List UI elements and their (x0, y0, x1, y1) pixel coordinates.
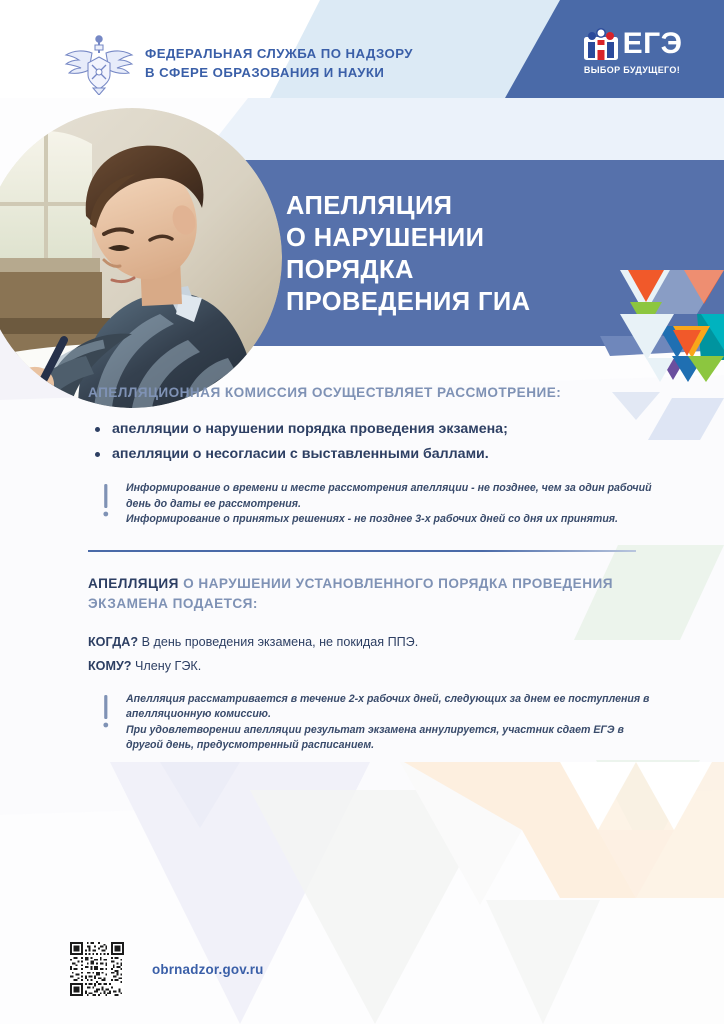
hero-banner: АПЕЛЛЯЦИЯ О НАРУШЕНИИ ПОРЯДКА ПРОВЕДЕНИЯ… (0, 98, 724, 383)
agency-name: ФЕДЕРАЛЬНАЯ СЛУЖБА ПО НАДЗОРУ В СФЕРЕ ОБ… (145, 44, 413, 82)
rosobrnadzor-emblem-icon (62, 33, 136, 95)
section-divider (88, 550, 636, 552)
section1-note: Информирование о времени и месте рассмот… (100, 481, 660, 528)
qa-value: Члену ГЭК. (132, 659, 202, 673)
qr-code-icon[interactable] (70, 942, 124, 996)
exclamation-mark-icon (100, 695, 112, 729)
qa-label: КОГДА? (88, 635, 138, 649)
poster-root: ФЕДЕРАЛЬНАЯ СЛУЖБА ПО НАДЗОРУ В СФЕРЕ ОБ… (0, 0, 724, 1024)
exclamation-mark-icon (100, 484, 112, 518)
page-footer: obrnadzor.gov.ru (0, 914, 724, 1024)
ege-logo-tagline: ВЫБОР БУДУЩЕГО! (568, 65, 696, 75)
hero-title: АПЕЛЛЯЦИЯ О НАРУШЕНИИ ПОРЯДКА ПРОВЕДЕНИЯ… (286, 190, 530, 318)
section2-note: Апелляция рассматривается в течение 2-х … (100, 692, 660, 754)
section2-qa-list: КОГДА? В день проведения экзамена, не по… (88, 630, 660, 678)
qa-row: КОМУ? Члену ГЭК. (88, 654, 660, 678)
list-item: апелляции о нарушении порядка проведения… (88, 417, 660, 442)
note-line: Информирование о принятых решениях - не … (126, 512, 660, 528)
qa-label: КОМУ? (88, 659, 132, 673)
section2-heading: АПЕЛЛЯЦИЯ О НАРУШЕНИИ УСТАНОВЛЕННОГО ПОР… (88, 574, 660, 614)
note-line: При удовлетворении апелляции результат э… (126, 723, 660, 754)
qa-row: КОГДА? В день проведения экзамена, не по… (88, 630, 660, 654)
section-appeal-submission: АПЕЛЛЯЦИЯ О НАРУШЕНИИ УСТАНОВЛЕННОГО ПОР… (0, 574, 724, 754)
site-url-link[interactable]: obrnadzor.gov.ru (152, 962, 264, 977)
ege-people-mark-icon (582, 26, 620, 62)
note-line: Информирование о времени и месте рассмот… (126, 481, 660, 512)
section1-heading: АПЕЛЛЯЦИОННАЯ КОМИССИЯ ОСУЩЕСТВЛЯЕТ РАСС… (88, 383, 660, 403)
ege-logo-text: ЕГЭ (623, 27, 683, 61)
color-triangles-decor-icon (600, 248, 724, 383)
content-area: АПЕЛЛЯЦИОННАЯ КОМИССИЯ ОСУЩЕСТВЛЯЕТ РАСС… (0, 383, 724, 754)
section-commission-review: АПЕЛЛЯЦИОННАЯ КОМИССИЯ ОСУЩЕСТВЛЯЕТ РАСС… (0, 383, 724, 528)
list-item: апелляции о несогласии с выставленными б… (88, 442, 660, 467)
page-header: ФЕДЕРАЛЬНАЯ СЛУЖБА ПО НАДЗОРУ В СФЕРЕ ОБ… (0, 0, 724, 98)
note-line: Апелляция рассматривается в течение 2-х … (126, 692, 660, 723)
section2-heading-strong: АПЕЛЛЯЦИЯ (88, 576, 179, 591)
section1-bullet-list: апелляции о нарушении порядка проведения… (88, 417, 660, 467)
ege-logo: ЕГЭ ВЫБОР БУДУЩЕГО! (568, 24, 696, 82)
qa-value: В день проведения экзамена, не покидая П… (138, 635, 418, 649)
